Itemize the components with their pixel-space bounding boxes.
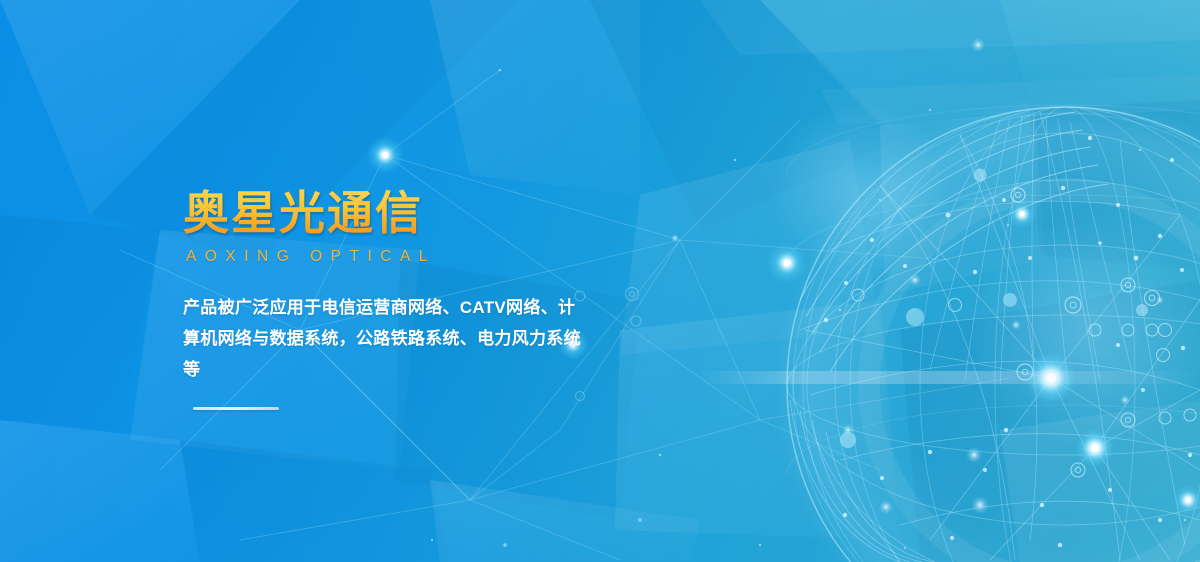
banner-description: 产品被广泛应用于电信运营商网络、CATV网络、计算机网络与数据系统，公路铁路系统… <box>183 292 589 385</box>
hero-banner: 奥星光通信 AOXING OPTICAL 产品被广泛应用于电信运营商网络、CAT… <box>0 0 1200 562</box>
banner-title: 奥星光通信 <box>183 188 613 240</box>
banner-subtitle: AOXING OPTICAL <box>186 248 613 266</box>
title-divider <box>193 407 279 410</box>
banner-content: 奥星光通信 AOXING OPTICAL 产品被广泛应用于电信运营商网络、CAT… <box>183 188 613 410</box>
